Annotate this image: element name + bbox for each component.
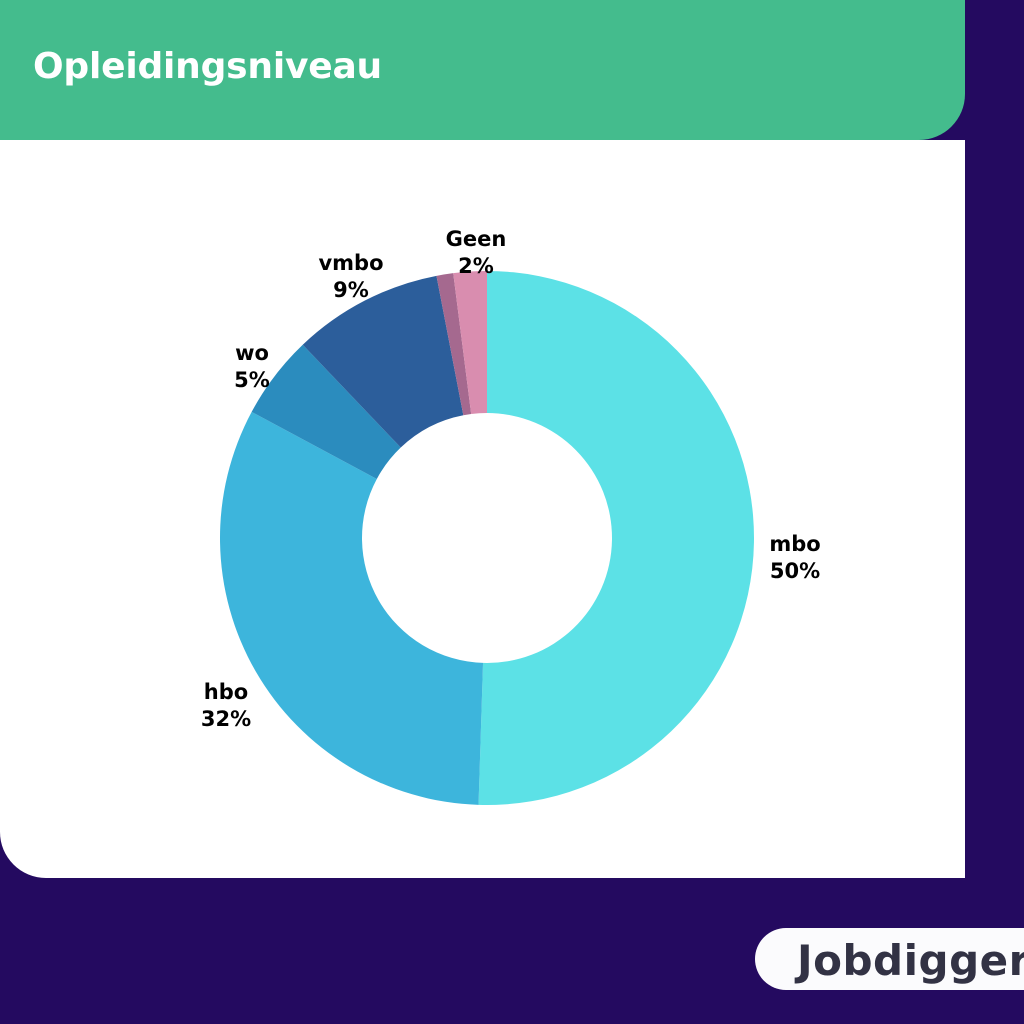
page-title: Opleidingsniveau [33,46,382,87]
slice-label-mbo: mbo50% [725,531,865,585]
slice-label-percent: 50% [725,558,865,585]
slice-label-percent: 32% [156,706,296,733]
slice-label-vmbo: vmbo9% [281,250,421,304]
donut-slice-mbo[interactable] [479,271,754,805]
slice-label-geen: Geen2% [406,226,546,280]
infographic-canvas: Opleidingsniveau mbo50%hbo32%wo5%vmbo9%G… [0,0,1024,1024]
donut-slice-hbo[interactable] [220,412,483,805]
slice-label-percent: 5% [182,367,322,394]
donut-chart: mbo50%hbo32%wo5%vmbo9%Geen2% [0,140,965,878]
header-band: Opleidingsniveau [0,0,965,140]
slice-label-name: hbo [156,679,296,706]
slice-label-percent: 2% [406,253,546,280]
slice-label-hbo: hbo32% [156,679,296,733]
jobdigger-logo-text: Jobdigger [797,936,1024,985]
slice-label-percent: 9% [281,277,421,304]
slice-label-name: mbo [725,531,865,558]
slice-label-name: vmbo [281,250,421,277]
slice-label-name: wo [182,340,322,367]
slice-label-wo: wo5% [182,340,322,394]
slice-label-name: Geen [406,226,546,253]
